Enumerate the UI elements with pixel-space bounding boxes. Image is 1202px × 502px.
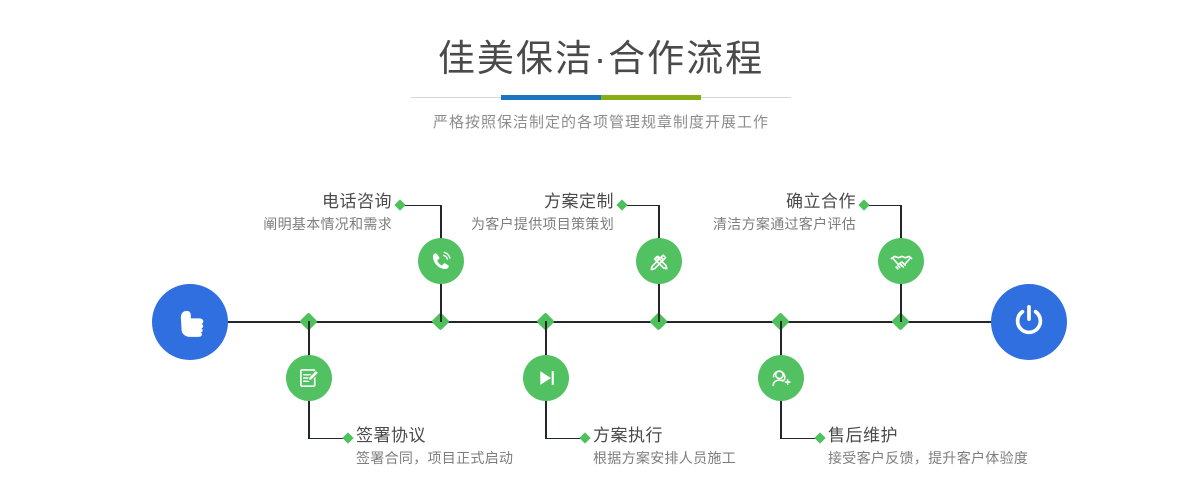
handshake-icon [888, 248, 915, 275]
step-icon-customer-support [758, 355, 804, 401]
connector-tip-step-5 [858, 199, 869, 210]
step-icon-play-skip [523, 355, 569, 401]
timeline-end-badge [991, 284, 1067, 360]
phone-call-icon [428, 248, 454, 274]
power-icon [1008, 299, 1050, 346]
connector-tip-step-6 [814, 432, 825, 443]
step-label-4: 方案执行 根据方案安排人员施工 [593, 426, 736, 468]
step-label-6: 售后维护 接受客户反馈，提升客户体验度 [828, 426, 1028, 468]
step-desc-6: 接受客户反馈，提升客户体验度 [828, 448, 1028, 468]
step-desc-3: 为客户提供项目策策划 [360, 214, 614, 234]
connector-h-step-4 [545, 438, 583, 439]
connector-tip-step-4 [579, 432, 590, 443]
process-flow-infographic: 佳美保洁·合作流程 严格按照保洁制定的各项管理规章制度开展工作 [0, 0, 1202, 502]
pointing-hand-icon [170, 300, 210, 345]
pencil-ruler-icon [646, 248, 672, 274]
customer-support-icon [768, 365, 794, 391]
document-edit-icon [296, 365, 322, 391]
connector-h-step-6 [780, 438, 818, 439]
step-desc-1: 阐明基本情况和需求 [130, 214, 392, 234]
connector-h-step-2 [308, 438, 346, 439]
play-skip-icon [533, 365, 559, 391]
step-title-5: 确立合作 [604, 192, 856, 212]
step-title-1: 电话咨询 [130, 192, 392, 212]
step-icon-document-edit [286, 355, 332, 401]
timeline: 电话咨询 阐明基本情况和需求 签署协议 签署合同，项目正式启动 [0, 0, 1202, 502]
connector-h-step-5 [864, 205, 901, 206]
step-label-5: 确立合作 清洁方案通过客户评估 [604, 192, 856, 234]
timeline-start-badge [152, 284, 228, 360]
step-desc-5: 清洁方案通过客户评估 [604, 214, 856, 234]
step-desc-2: 签署合同，项目正式启动 [356, 448, 513, 468]
step-label-3: 方案定制 为客户提供项目策策划 [360, 192, 614, 234]
step-title-6: 售后维护 [828, 426, 1028, 446]
step-title-2: 签署协议 [356, 426, 513, 446]
connector-tip-step-2 [342, 432, 353, 443]
step-label-1: 电话咨询 阐明基本情况和需求 [130, 192, 392, 234]
step-icon-pencil-ruler [636, 238, 682, 284]
step-icon-phone-call [418, 238, 464, 284]
step-label-2: 签署协议 签署合同，项目正式启动 [356, 426, 513, 468]
step-desc-4: 根据方案安排人员施工 [593, 448, 736, 468]
step-title-4: 方案执行 [593, 426, 736, 446]
step-title-3: 方案定制 [360, 192, 614, 212]
step-icon-handshake [878, 238, 924, 284]
